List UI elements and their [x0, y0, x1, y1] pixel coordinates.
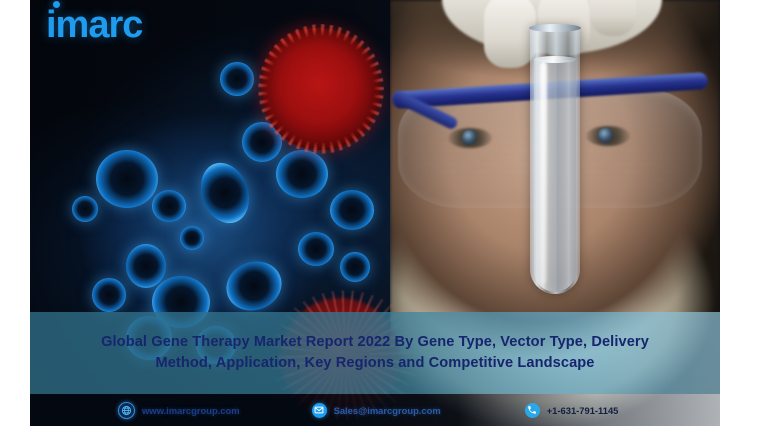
- contact-footer-bar: www.imarcgroup.com Sales@imarcgroup.com: [30, 394, 720, 426]
- logo-dot-icon: [53, 1, 60, 8]
- blue-cell: [340, 252, 370, 282]
- website-text: www.imarcgroup.com: [142, 405, 240, 416]
- imarc-logo[interactable]: imarc: [46, 6, 142, 44]
- title-banner-band: Global Gene Therapy Market Report 2022 B…: [30, 312, 720, 394]
- phone-icon: [525, 403, 540, 418]
- logo-wordmark: imarc: [46, 4, 142, 46]
- blue-cell: [96, 150, 158, 208]
- glove-finger: [484, 0, 536, 68]
- blue-cell: [92, 278, 126, 312]
- blue-cell: [180, 226, 204, 250]
- email-contact[interactable]: Sales@imarcgroup.com: [312, 403, 441, 418]
- report-banner-image: imarc Global Gene Therapy Market Report …: [30, 0, 720, 426]
- blue-cell: [276, 150, 328, 198]
- screenshot-root: imarc Global Gene Therapy Market Report …: [0, 0, 780, 440]
- report-title: Global Gene Therapy Market Report 2022 B…: [75, 332, 675, 374]
- website-contact[interactable]: www.imarcgroup.com: [118, 402, 240, 419]
- blue-cell: [330, 190, 374, 230]
- blue-cell: [72, 196, 98, 222]
- blue-cell: [126, 244, 166, 288]
- globe-icon: [118, 402, 135, 419]
- blue-cell: [152, 190, 186, 222]
- glove-finger: [590, 0, 636, 36]
- phone-contact[interactable]: +1-631-791-1145: [525, 403, 619, 418]
- test-tube-meniscus: [534, 56, 576, 63]
- blue-cell: [220, 62, 254, 96]
- phone-text: +1-631-791-1145: [547, 405, 619, 416]
- test-tube-highlight: [540, 62, 547, 284]
- cancer-cell: [262, 28, 380, 150]
- email-text: Sales@imarcgroup.com: [334, 405, 441, 416]
- envelope-icon: [312, 403, 327, 418]
- test-tube-rim: [529, 24, 581, 32]
- blue-cell: [298, 232, 334, 266]
